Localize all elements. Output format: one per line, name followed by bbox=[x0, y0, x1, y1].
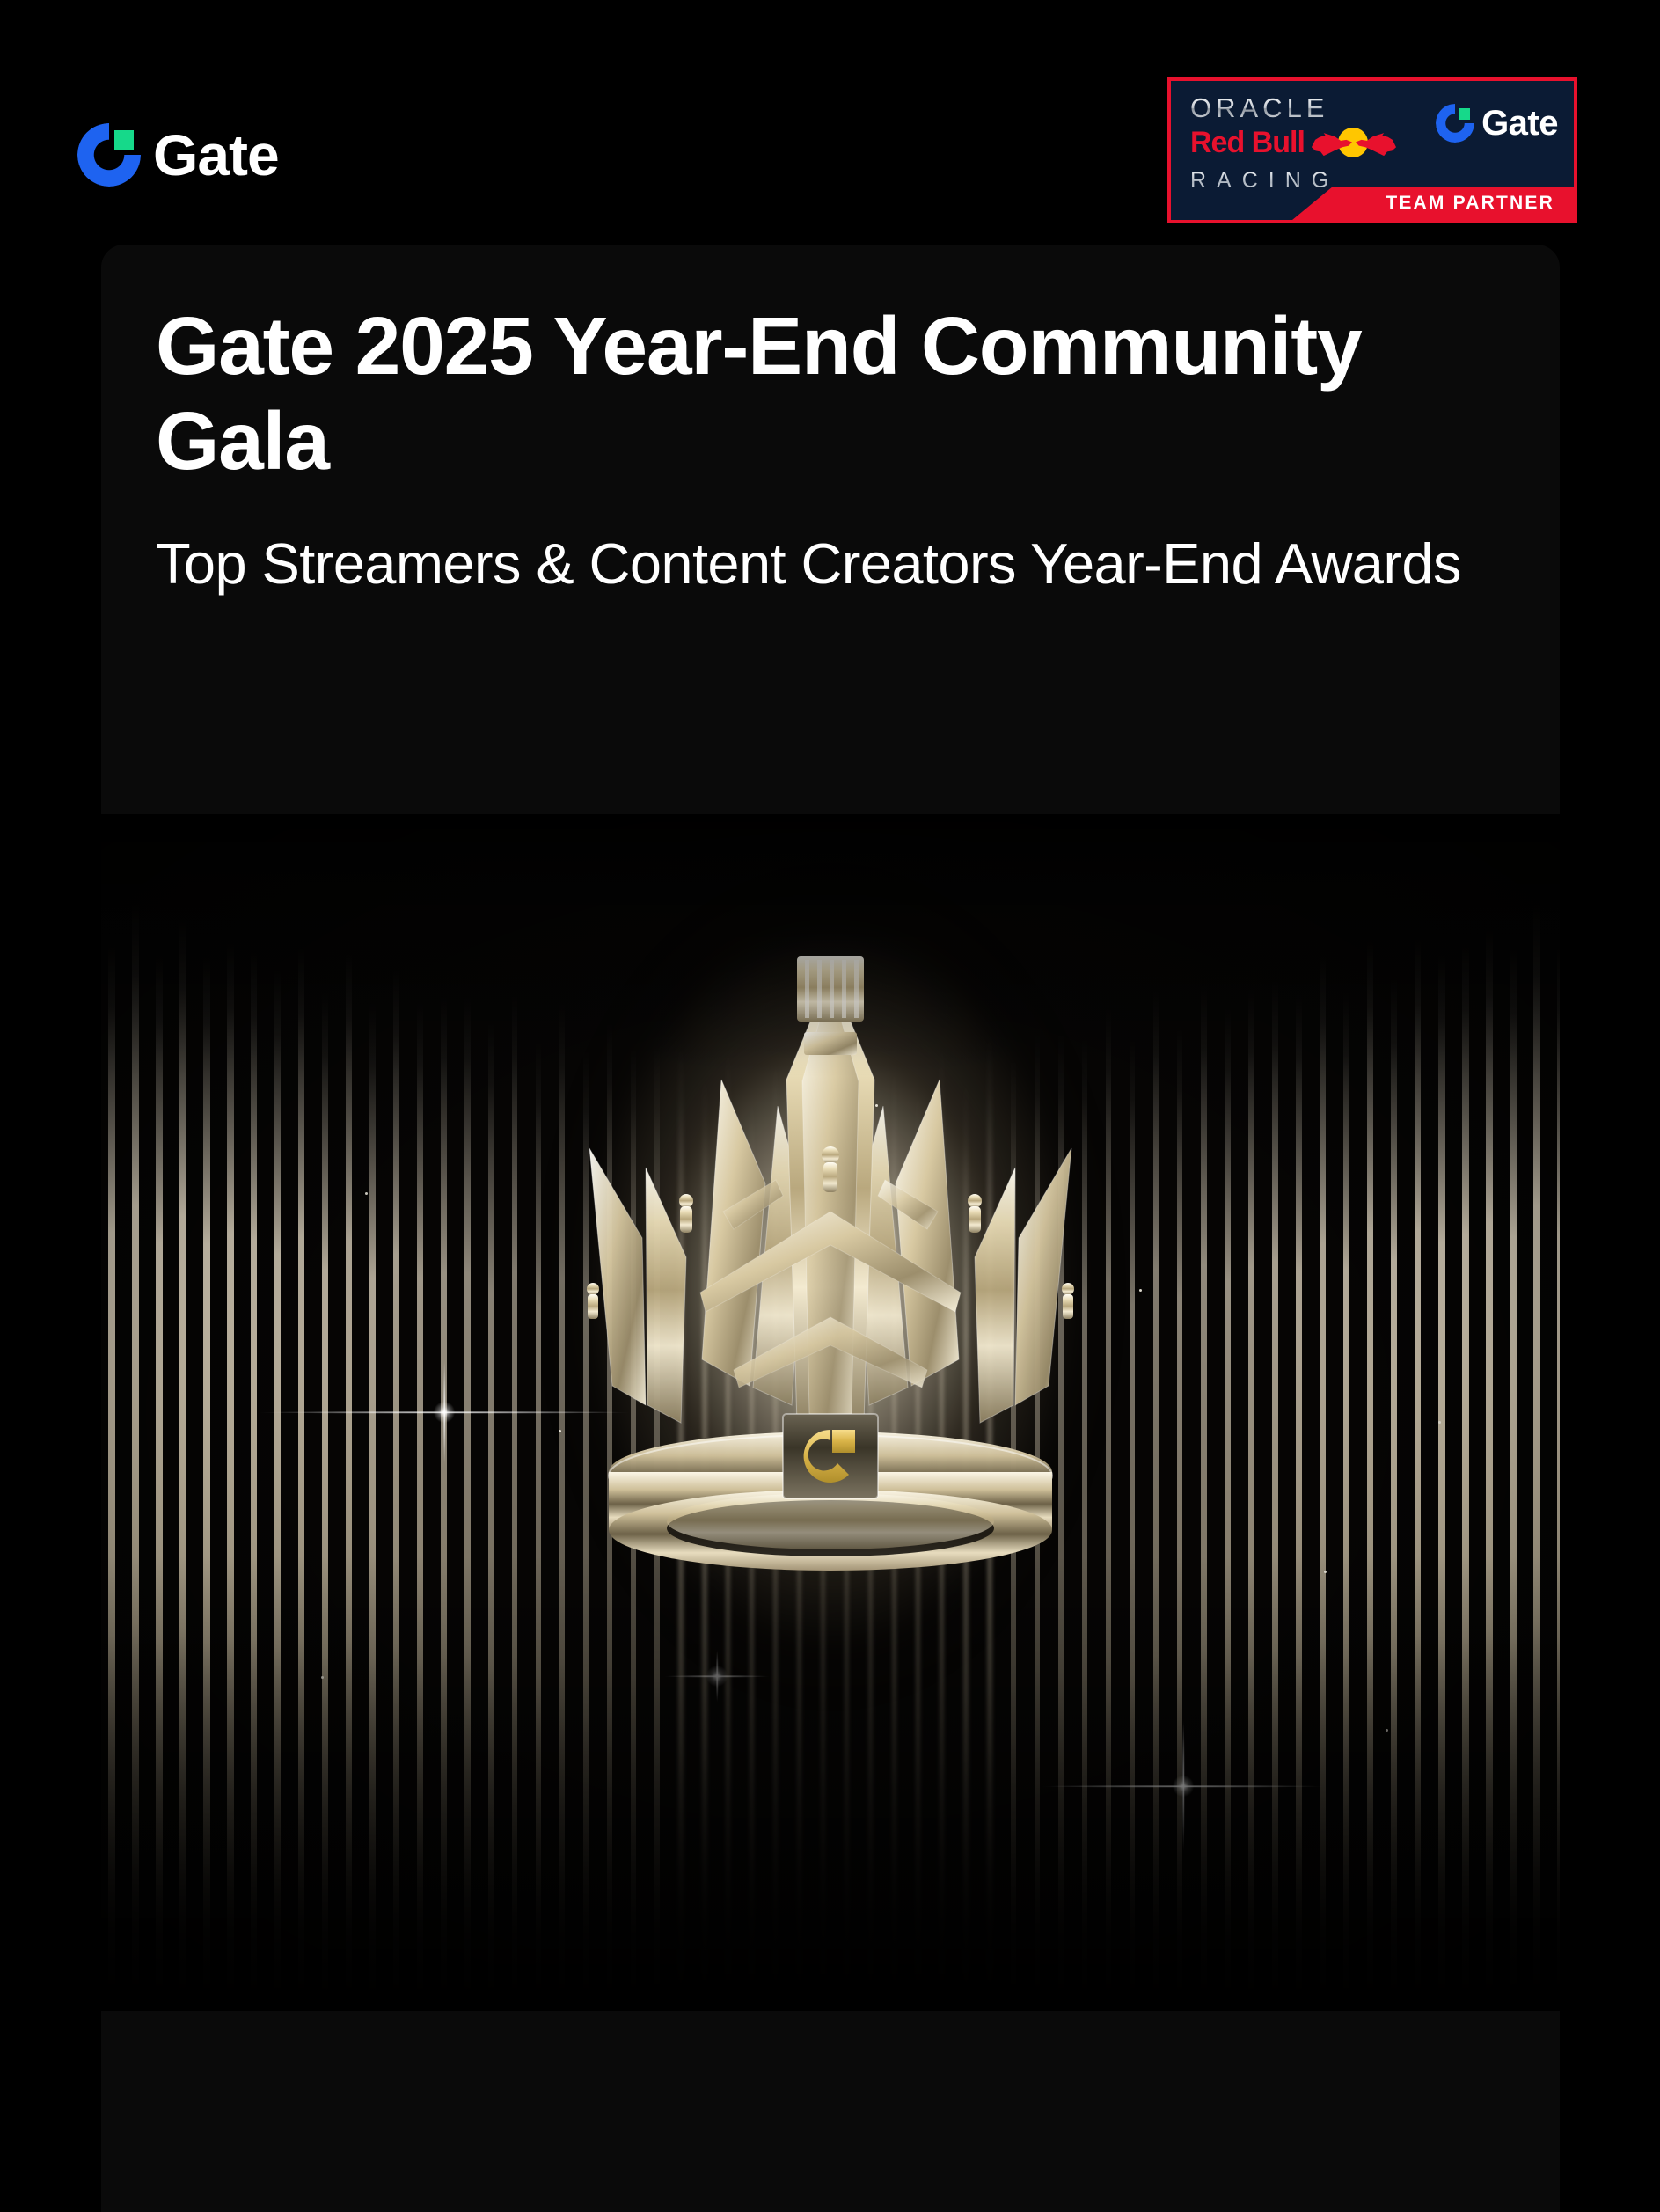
gate-logo-icon bbox=[77, 123, 141, 187]
hero-crown-image bbox=[101, 814, 1560, 2011]
gate-brand-logo[interactable]: Gate bbox=[77, 123, 279, 187]
team-partner-label: TEAM PARTNER bbox=[1386, 193, 1554, 214]
hero-vignette bbox=[101, 814, 1560, 2011]
red-bull-label: Red Bull bbox=[1190, 128, 1305, 157]
badge-gate-logo: Gate bbox=[1436, 104, 1558, 143]
team-partner-banner: TEAM PARTNER bbox=[1292, 187, 1574, 220]
card-text-block: Gate 2025 Year-End Community Gala Top St… bbox=[101, 245, 1560, 597]
poster-page: Gate ORACLE Red Bull RACING bbox=[0, 0, 1660, 2212]
page-header: Gate ORACLE Red Bull RACING bbox=[0, 0, 1660, 245]
gate-logo-icon-small bbox=[1436, 104, 1474, 143]
badge-gate-wordmark: Gate bbox=[1481, 106, 1558, 141]
badge-divider bbox=[1190, 165, 1387, 165]
page-subtitle: Top Streamers & Content Creators Year-En… bbox=[156, 531, 1505, 597]
announcement-card: Gate 2025 Year-End Community Gala Top St… bbox=[101, 245, 1560, 2212]
gate-wordmark: Gate bbox=[153, 126, 279, 184]
oracle-red-bull-racing-partner-badge[interactable]: ORACLE Red Bull RACING bbox=[1167, 77, 1577, 223]
gate-square-accent-icon bbox=[114, 130, 134, 150]
gate-square-accent-icon-small bbox=[1459, 108, 1470, 120]
page-title: Gate 2025 Year-End Community Gala bbox=[156, 299, 1505, 489]
oracle-label: ORACLE bbox=[1190, 93, 1393, 123]
red-bull-icon bbox=[1312, 125, 1396, 160]
red-bull-row: Red Bull bbox=[1190, 125, 1393, 160]
red-bull-racing-lockup: ORACLE Red Bull RACING bbox=[1190, 93, 1393, 194]
